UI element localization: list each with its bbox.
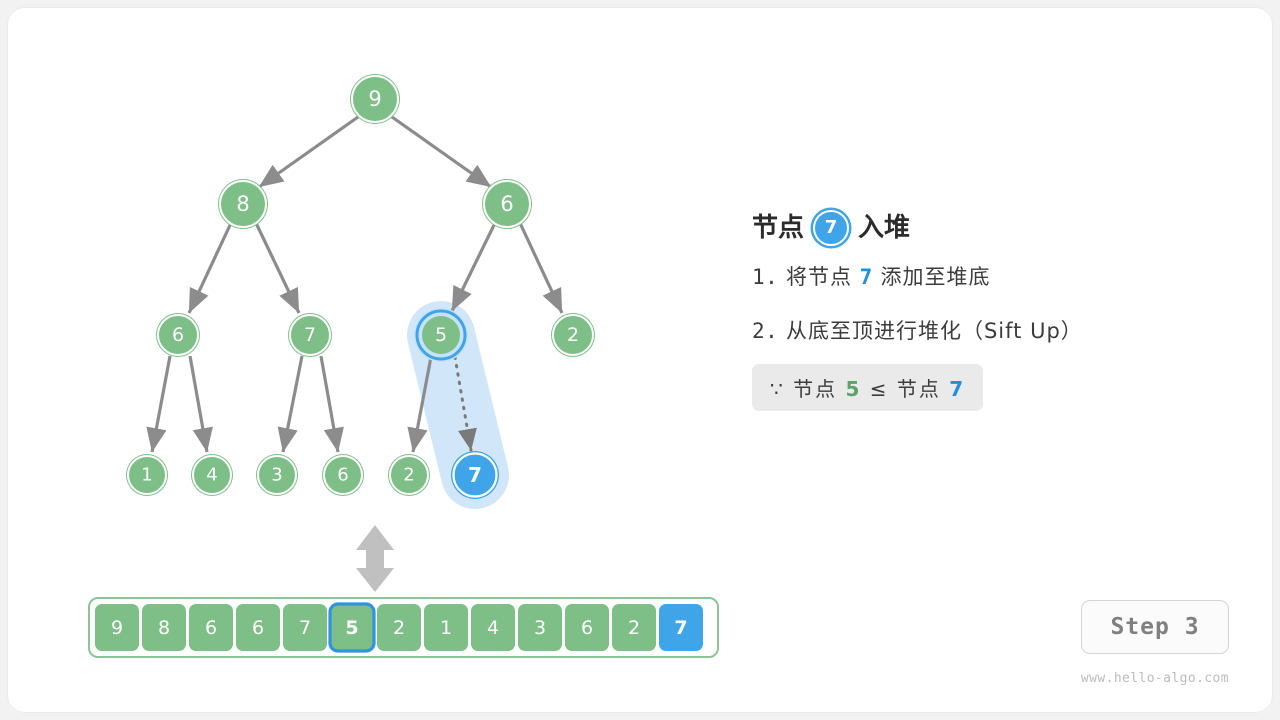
edge-6-2	[520, 223, 562, 313]
panel-step-1-text-after: 添加至堆底	[873, 265, 991, 289]
tree-edges	[152, 117, 562, 452]
panel-title-prefix: 节点	[752, 206, 804, 250]
tree-leaf-1: 1	[126, 454, 168, 496]
tree-leaf-2: 2	[388, 454, 430, 496]
edge-7-3	[283, 356, 302, 452]
tree-node-label: 2	[567, 324, 579, 346]
sync-double-arrow-icon	[356, 525, 394, 592]
tree-node-label: 7	[468, 463, 482, 487]
comparison-chip: ∵ 节点 5 ≤ 节点 7	[752, 364, 983, 411]
step-badge: Step 3	[1081, 600, 1229, 654]
tree-node-label: 4	[206, 465, 217, 486]
tree-node-8: 8	[218, 179, 268, 229]
panel-title-suffix: 入堆	[858, 206, 910, 250]
panel-step-1-index: 1.	[752, 265, 778, 289]
array-cell-12-new: 7	[659, 604, 703, 651]
tree-nodes: 9 8 6 6 7	[126, 74, 595, 499]
array-cell-value: 2	[628, 617, 640, 639]
array-cell-value: 3	[534, 617, 546, 639]
array-cell-value: 5	[345, 617, 358, 639]
array-cell-9: 3	[518, 604, 562, 651]
explanation-panel: 节点 7 入堆 1. 将节点 7 添加至堆底 2. 从底至顶进行堆化（Sift …	[752, 206, 1222, 411]
array-cell-value: 7	[674, 617, 687, 639]
tree-node-label: 1	[141, 465, 152, 486]
tree-leaf-7-new: 7	[451, 451, 499, 499]
tree-node-2-right: 2	[551, 313, 595, 357]
array-cell-8: 4	[471, 604, 515, 651]
array-cell-5-highlight: 5	[330, 604, 374, 651]
array-cell-1: 8	[142, 604, 186, 651]
edge-6-5	[452, 223, 495, 311]
array-cell-4: 7	[283, 604, 327, 651]
tree-node-label: 9	[368, 87, 381, 111]
chip-because-symbol: ∵	[770, 377, 785, 401]
tree-node-label: 6	[500, 192, 513, 216]
watermark: www.hello-algo.com	[1069, 671, 1229, 686]
panel-step-2-index: 2.	[752, 319, 778, 343]
tree-node-label: 6	[337, 465, 348, 486]
tree-node-7-mid: 7	[288, 313, 332, 357]
chip-right-label: 节点	[897, 377, 941, 401]
panel-step-1-value: 7	[860, 265, 873, 289]
tree-leaf-3: 3	[256, 454, 298, 496]
chip-left-value: 5	[845, 377, 861, 401]
tree-leaf-6: 6	[322, 454, 364, 496]
array-cell-11: 2	[612, 604, 656, 651]
tree-node-label: 6	[172, 324, 184, 346]
tree-node-label: 5	[435, 324, 447, 346]
panel-step-1: 1. 将节点 7 添加至堆底	[752, 250, 1222, 304]
panel-step-2: 2. 从底至顶进行堆化（Sift Up）	[752, 304, 1222, 358]
array-cell-value: 6	[581, 617, 593, 639]
array-cell-3: 6	[236, 604, 280, 651]
array-cell-value: 1	[440, 617, 452, 639]
array-cell-value: 4	[487, 617, 499, 639]
array-view: 9 8 6 6 7 5 2	[89, 598, 718, 657]
edge-8-7	[256, 223, 299, 313]
edge-8-6	[189, 223, 231, 313]
array-cell-0: 9	[95, 604, 139, 651]
edge-6-4	[190, 356, 207, 452]
edge-9-6	[392, 117, 491, 187]
panel-title-node-badge: 7	[813, 210, 849, 246]
array-cell-6: 2	[377, 604, 421, 651]
tree-node-9: 9	[350, 74, 400, 124]
array-cell-2: 6	[189, 604, 233, 651]
array-cell-value: 8	[158, 617, 170, 639]
array-cell-10: 6	[565, 604, 609, 651]
edge-7-6b	[321, 356, 338, 452]
tree-node-label: 7	[304, 324, 316, 346]
panel-step-2-text-before: 从底至顶进行堆化（Sift Up）	[778, 319, 1082, 343]
edge-6-1	[152, 356, 170, 452]
array-cell-value: 9	[111, 617, 123, 639]
tree-node-6-left: 6	[156, 313, 200, 357]
chip-left-label: 节点	[793, 377, 837, 401]
edge-9-8	[259, 117, 358, 187]
tree-node-label: 3	[271, 465, 282, 486]
tree-leaf-4: 4	[191, 454, 233, 496]
panel-title: 节点 7 入堆	[752, 206, 1222, 250]
array-cell-value: 7	[299, 617, 311, 639]
tree-node-label: 8	[236, 192, 249, 216]
tree-node-label: 2	[403, 465, 414, 486]
array-cell-value: 6	[205, 617, 217, 639]
tree-node-5-highlight: 5	[414, 308, 468, 362]
array-cell-value: 6	[252, 617, 264, 639]
chip-operator: ≤	[870, 377, 889, 401]
array-cell-7: 1	[424, 604, 468, 651]
panel-step-1-text-before: 将节点	[778, 265, 859, 289]
figure-canvas: 9 8 6 6 7	[0, 0, 1280, 720]
array-cell-value: 2	[393, 617, 405, 639]
tree-node-6-right: 6	[482, 179, 532, 229]
chip-right-value: 7	[949, 377, 965, 401]
